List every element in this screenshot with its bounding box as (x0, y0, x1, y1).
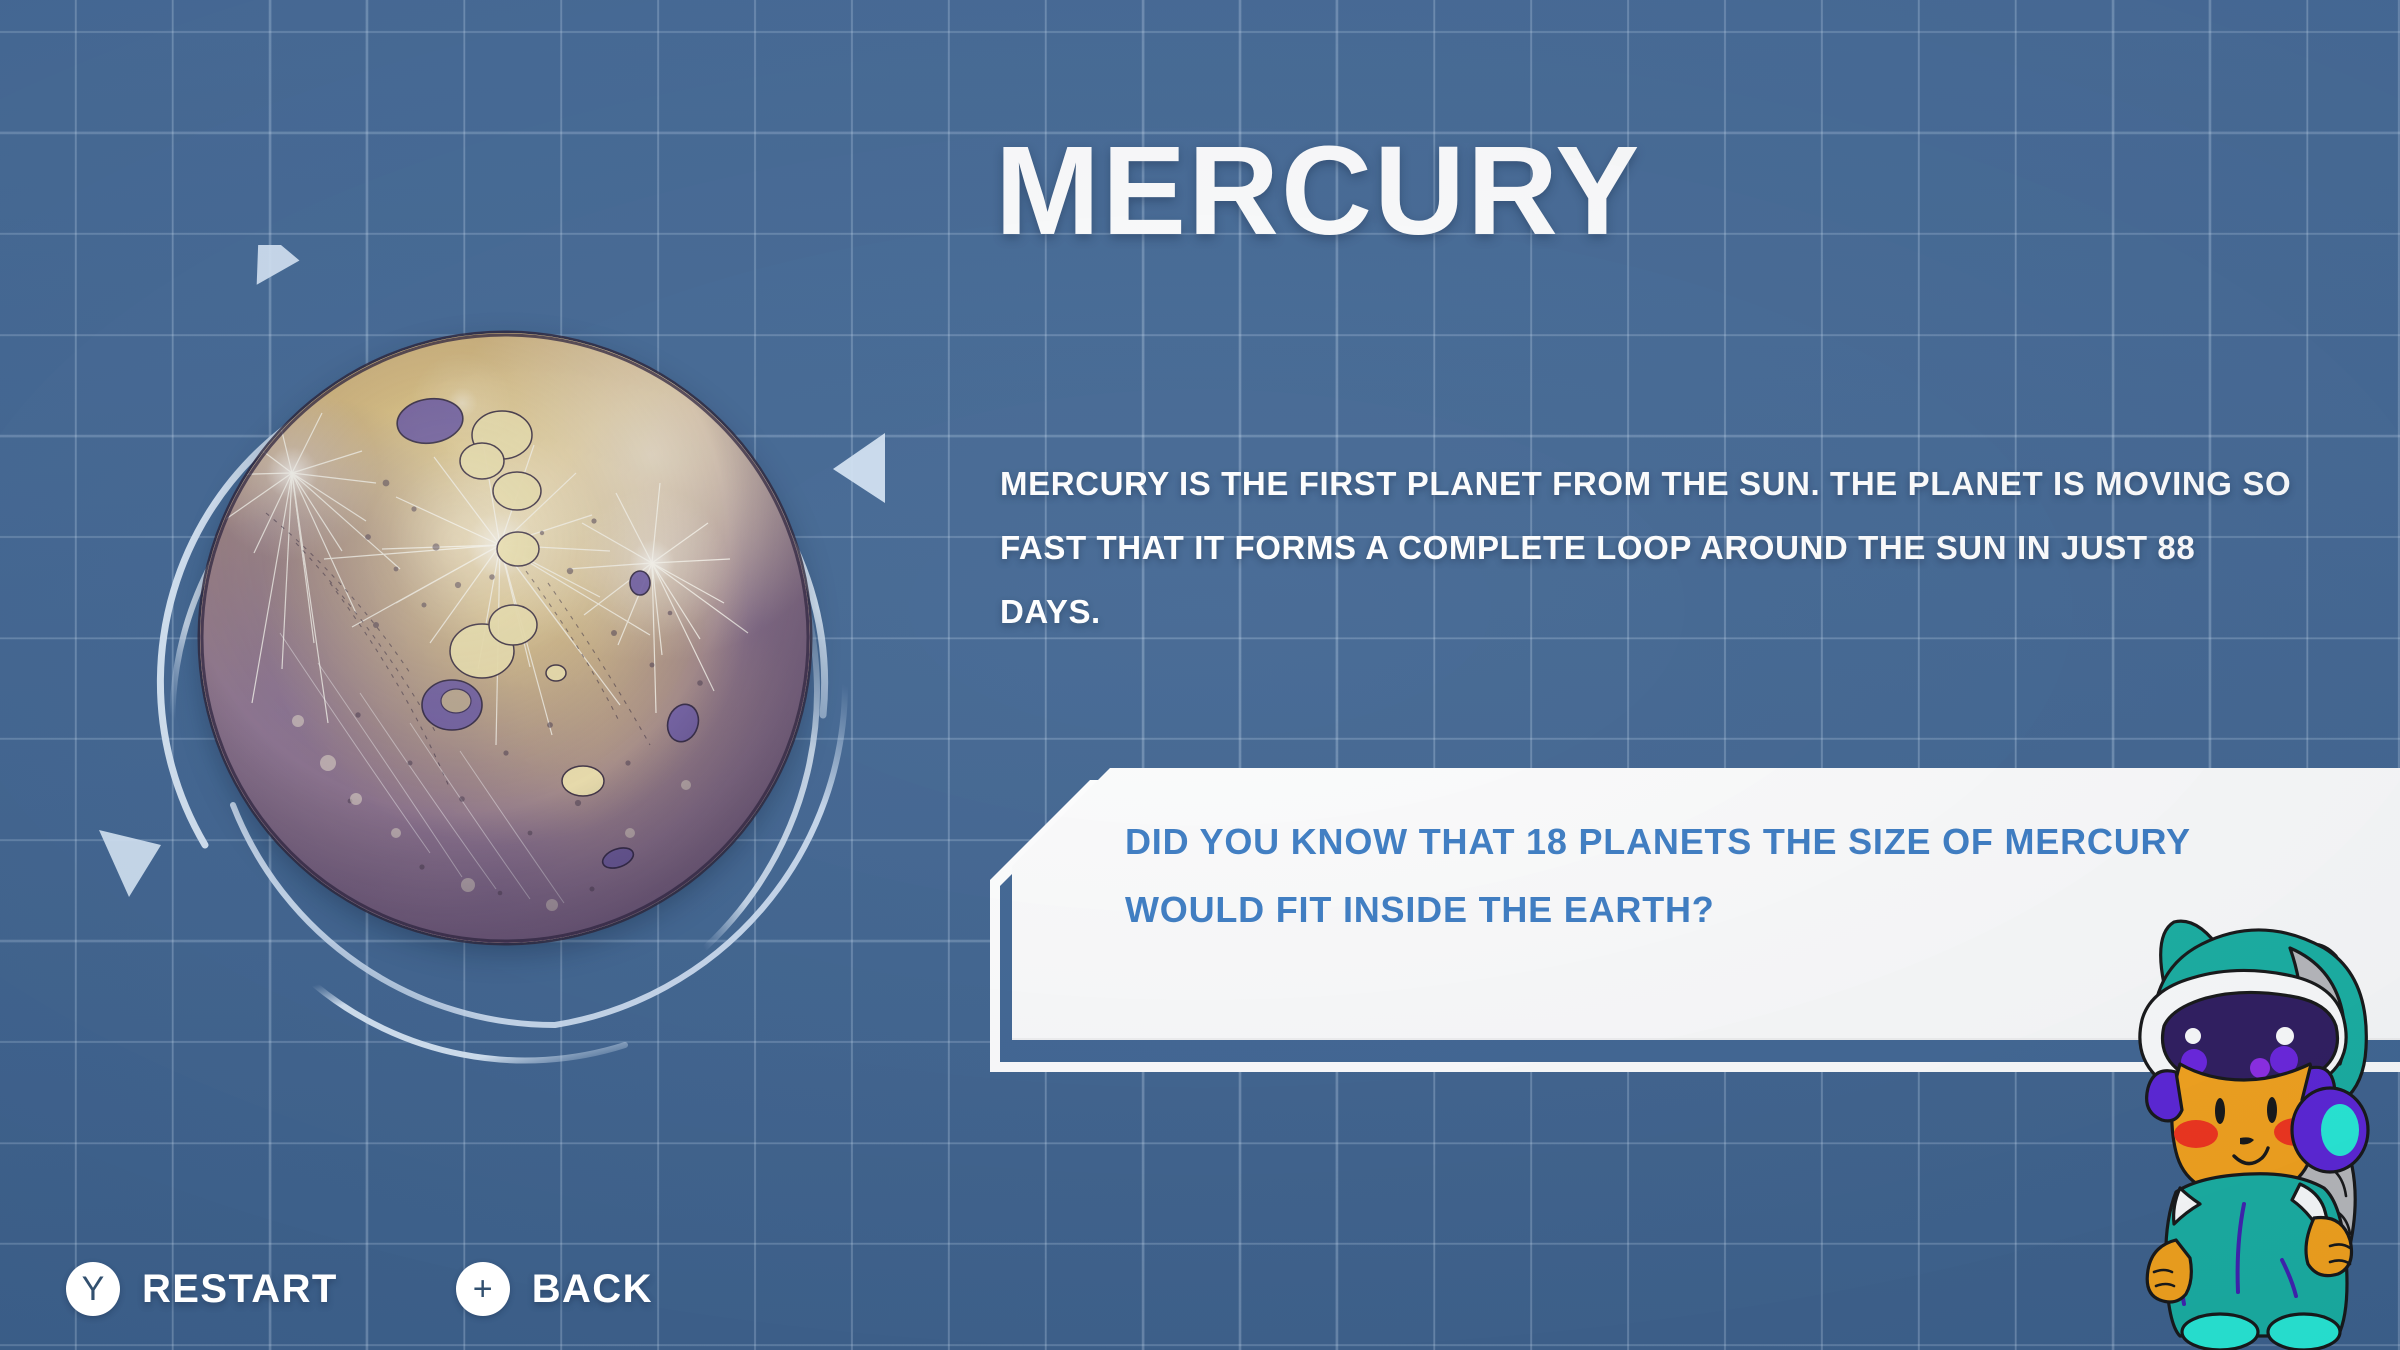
triangle-marker-right (833, 433, 885, 503)
restart-label: RESTART (142, 1267, 338, 1312)
planet-description: MERCURY IS THE FIRST PLANET FROM THE SUN… (1000, 452, 2300, 644)
page-title: MERCURY (995, 128, 1641, 254)
back-control[interactable]: + BACK (456, 1262, 653, 1316)
y-button-icon[interactable]: Y (66, 1262, 120, 1316)
ear-nub-left (2147, 1071, 2182, 1121)
y-button-glyph: Y (82, 1272, 105, 1306)
bottom-control-hints: Y RESTART + BACK (66, 1262, 653, 1316)
mercury-planet-illustration (200, 333, 810, 943)
plus-button-icon[interactable]: + (456, 1262, 510, 1316)
triangle-marker-top (251, 245, 304, 290)
plus-button-glyph: + (473, 1272, 493, 1306)
boot-left (2182, 1314, 2258, 1350)
game-screen: MERCURY MERCURY IS THE FIRST PLANET FROM… (0, 0, 2400, 1350)
cheek-left (2174, 1120, 2218, 1148)
planet-display (85, 245, 915, 1075)
triangle-marker-bottom-left (99, 830, 161, 897)
restart-control[interactable]: Y RESTART (66, 1262, 338, 1316)
back-label: BACK (532, 1267, 653, 1312)
boot-right (2268, 1314, 2340, 1350)
fact-bubble-text: DID YOU KNOW THAT 18 PLANETS THE SIZE OF… (1125, 808, 2225, 944)
astronaut-cat-mascot (2068, 888, 2400, 1350)
